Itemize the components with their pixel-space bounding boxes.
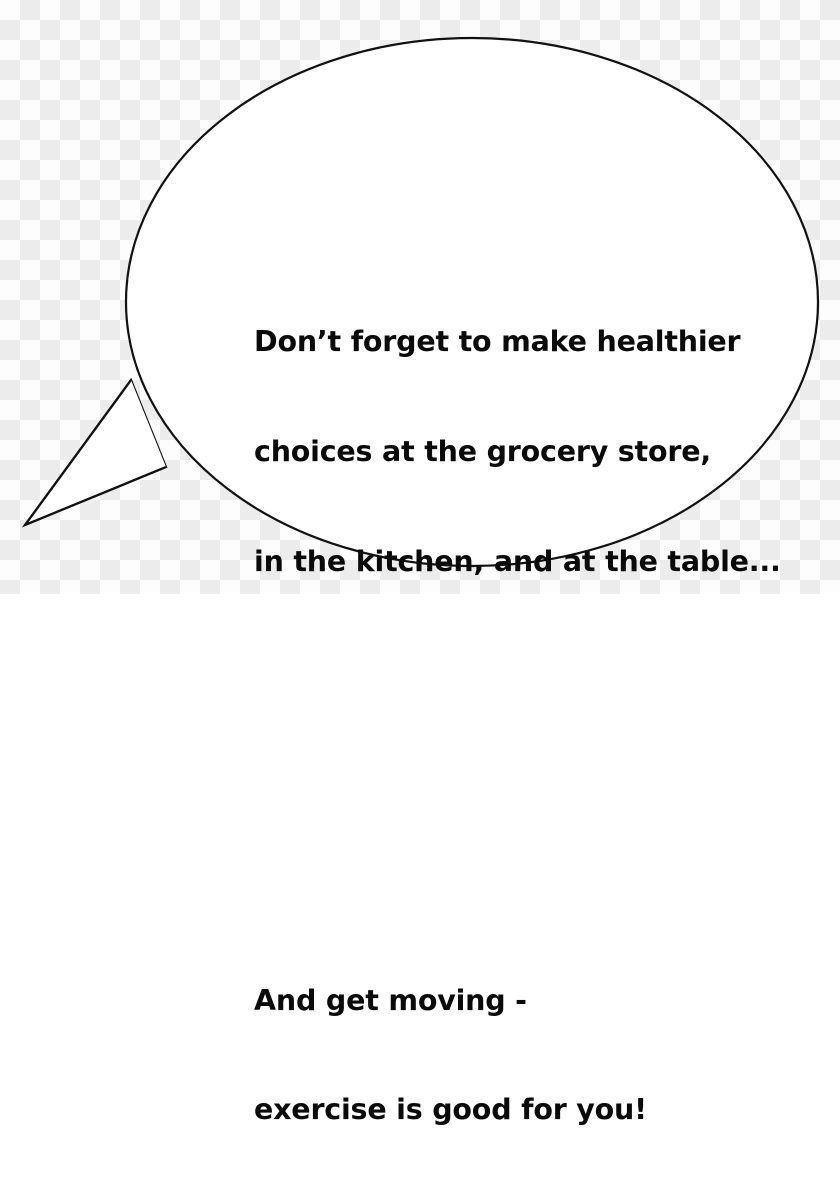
- message-line: in the kitchen, and at the table...: [254, 544, 774, 581]
- paragraph-healthier-choices: Don’t forget to make healthier choices a…: [254, 251, 774, 654]
- paragraph-spacer: [254, 763, 774, 800]
- paragraph-get-moving: And get moving - exercise is good for yo…: [254, 909, 774, 1188]
- message-line: exercise is good for you!: [254, 1092, 774, 1129]
- message-line: choices at the grocery store,: [254, 434, 774, 471]
- message-line: And get moving -: [254, 983, 774, 1020]
- speech-bubble-message: Don’t forget to make healthier choices a…: [254, 141, 774, 1188]
- image-canvas: Don’t forget to make healthier choices a…: [0, 0, 840, 594]
- message-line: Don’t forget to make healthier: [254, 324, 774, 361]
